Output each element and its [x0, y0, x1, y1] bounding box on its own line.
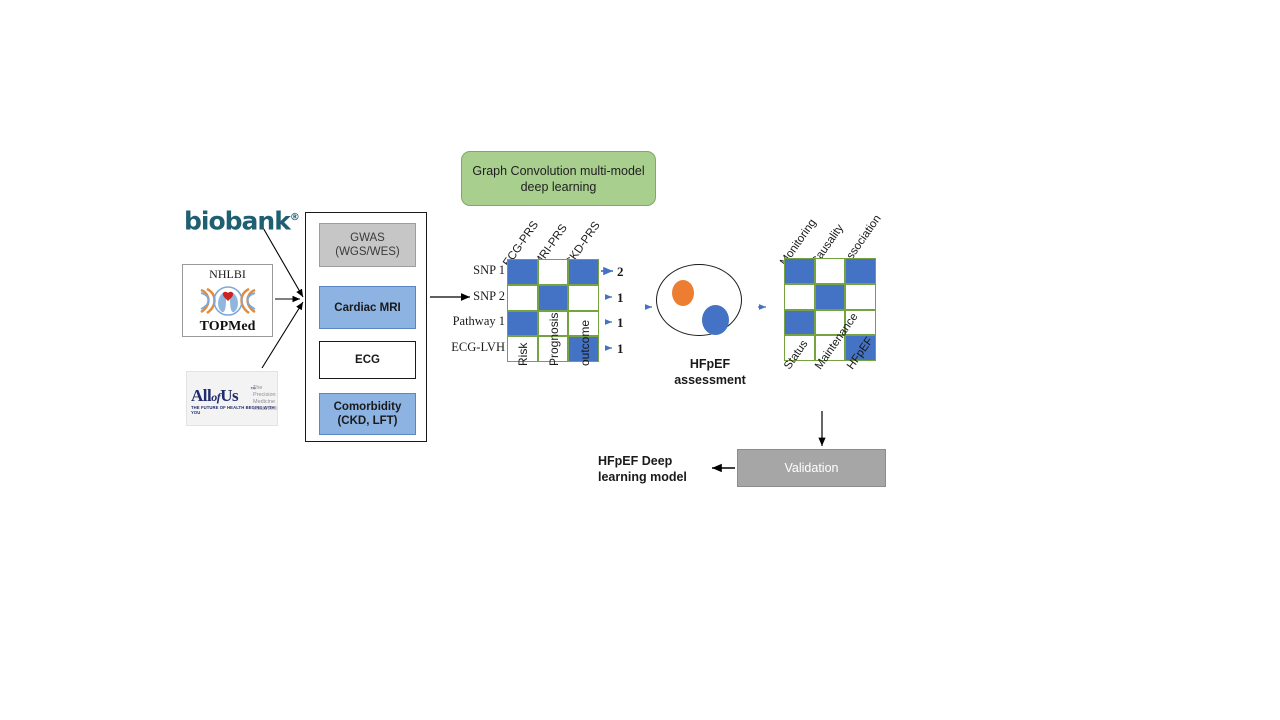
matrix-2-bottom-labels: Status Maintenance HFpEF — [0, 0, 1280, 720]
diagram-canvas: biobank® NHLBI TOPMed AllofUs ™ THE FUTU… — [0, 0, 1280, 720]
validation-box[interactable]: Validation — [737, 449, 886, 487]
matrix-2-bottom-label-hfpef: HFpEF — [845, 335, 876, 372]
hfpef-deep-learning-model-label: HFpEF Deep learning model — [598, 453, 708, 485]
matrix-2-bottom-label-status: Status — [782, 338, 811, 372]
